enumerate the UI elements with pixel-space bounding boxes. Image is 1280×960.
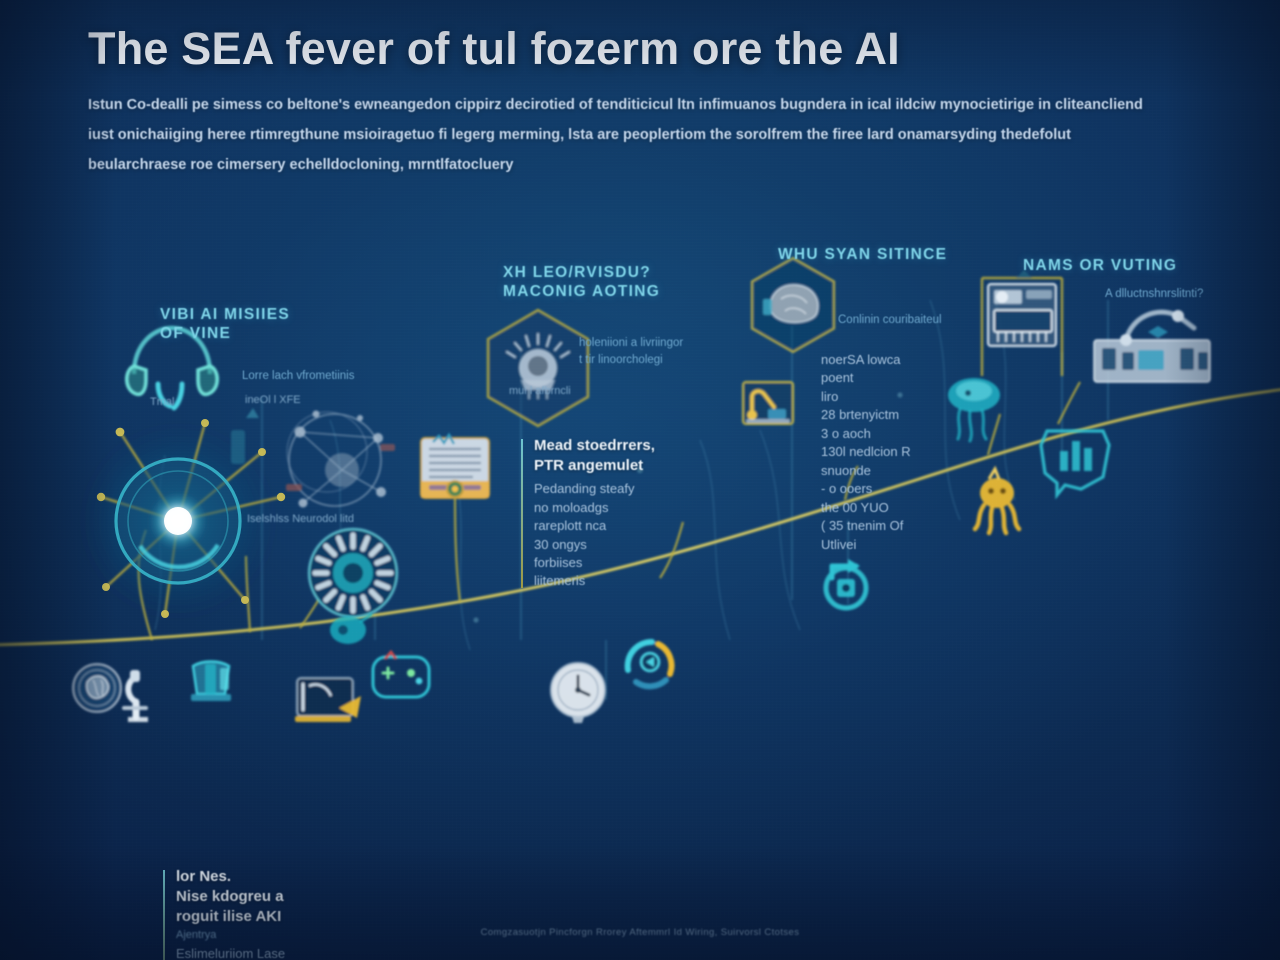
factory-line-icon — [743, 382, 793, 424]
vibe-tag-right-label: ineOl l XFE — [245, 394, 301, 406]
footer-note: Comgzasuotjn Pincforgn Rrorey Aftemmrl I… — [0, 927, 1280, 938]
sun-gear-hex-icon — [488, 310, 588, 426]
machining-block-title: Mead stoedrrers, PTR angemulet — [534, 436, 711, 476]
poster-subtitle: Istun Co-dealli pe simess co beltone's e… — [88, 91, 1143, 181]
machining-icon-caption: mui l afbrncli — [509, 385, 571, 397]
cluster-machining-heading: XH LeO/rvisDU? MACONIG AOTING — [503, 263, 803, 302]
cluster-span-heading-wrap: WHU SYAN SITINCE — [778, 245, 1038, 264]
span-block-body: noerSA lowca poent liro 28 brtenyictm 3 … — [821, 351, 1001, 554]
cluster-vibe-tag-left: Tmal — [150, 396, 174, 408]
cluster-vibe-tag-right: ineOl l XFE — [245, 394, 301, 406]
cluster-machining-icon-caption-wrap: mui l afbrncli — [509, 385, 571, 397]
cluster-span-heading: WHU SYAN SITINCE — [778, 245, 1038, 264]
cluster-span-sub-wrap: Conlinin couribaiteul — [838, 307, 1018, 329]
cluster-voting-heading-wrap: NAMS OR VUTING — [1023, 256, 1273, 275]
robot-arm-icon — [1094, 310, 1210, 382]
gamepad-icon — [295, 678, 361, 722]
molecule-network-icon — [286, 411, 395, 508]
poster-header: The SEA fever of tul fozerm ore the AI I… — [88, 26, 1188, 180]
radial-wheel-icon — [309, 529, 397, 617]
poster-footer: Comgzasuotjn Pincforgn Rrorey Aftemmrl I… — [0, 927, 1280, 938]
microscope-icon — [124, 670, 148, 722]
anchor-badge-icon — [826, 559, 866, 608]
printer-icon — [191, 662, 231, 702]
cluster-span-block: noerSA lowca poent liro 28 brtenyictm 3 … — [821, 347, 1001, 554]
cluster-vibe-node-label: Iselshlss Neurodol litd — [247, 513, 354, 525]
cluster-machining-subtext: holeniioni a livriingor t tir linoorchol… — [579, 335, 779, 370]
recycle-icon — [628, 642, 672, 686]
vibe-tag-left-label: Tmal — [150, 396, 174, 408]
poster-canvas: The SEA fever of tul fozerm ore the AI I… — [0, 0, 1280, 960]
clock-icon — [551, 663, 605, 723]
cluster-machining-sub-wrap: holeniioni a livriingor t tir linoorchol… — [579, 330, 779, 370]
cluster-vibe-heading: Vibi AI misiies OF VINE — [160, 305, 460, 344]
cluster-voting-sub-wrap: A dlluctnshnrslitnti? — [1105, 281, 1280, 303]
cluster-machining-heading-wrap: XH LeO/rvisDU? MACONIG AOTING — [503, 263, 803, 302]
brain-disc-icon — [73, 664, 121, 712]
cluster-vibe-ai: Vibi AI misiies OF VINE — [160, 305, 460, 344]
gamepad-icon — [373, 652, 429, 697]
cluster-left-bottom: lor Nes. Nise kdogreu a roguit ilise AKI… — [163, 867, 363, 960]
cluster-machining-block: Mead stoedrrers, PTR angemulet Pedanding… — [521, 436, 711, 591]
document-card-icon — [421, 435, 489, 498]
page-title: The SEA fever of tul fozerm ore the AI — [88, 26, 1188, 73]
machining-block-body: Pedanding steafy no moloadgs rareplott n… — [534, 480, 711, 591]
left-bottom-title: lor Nes. Nise kdogreu a roguit ilise AKI — [176, 867, 363, 927]
left-bottom-body: Eslimeluriiom Lase Predialnsi folo they … — [176, 945, 363, 960]
cluster-vibe-sub: Lorre lach vfrometiinis — [242, 363, 462, 385]
cluster-voting-heading: NAMS OR VUTING — [1023, 256, 1273, 275]
cluster-vibe-subtext: Lorre lach vfrometiinis — [242, 368, 462, 385]
vibe-node-label: Iselshlss Neurodol litd — [247, 513, 354, 525]
cluster-span-subtext: Conlinin couribaiteul — [838, 312, 1018, 329]
cluster-voting-subtext: A dlluctnshnrslitnti? — [1105, 286, 1280, 303]
chart-shield-icon — [1041, 431, 1109, 495]
